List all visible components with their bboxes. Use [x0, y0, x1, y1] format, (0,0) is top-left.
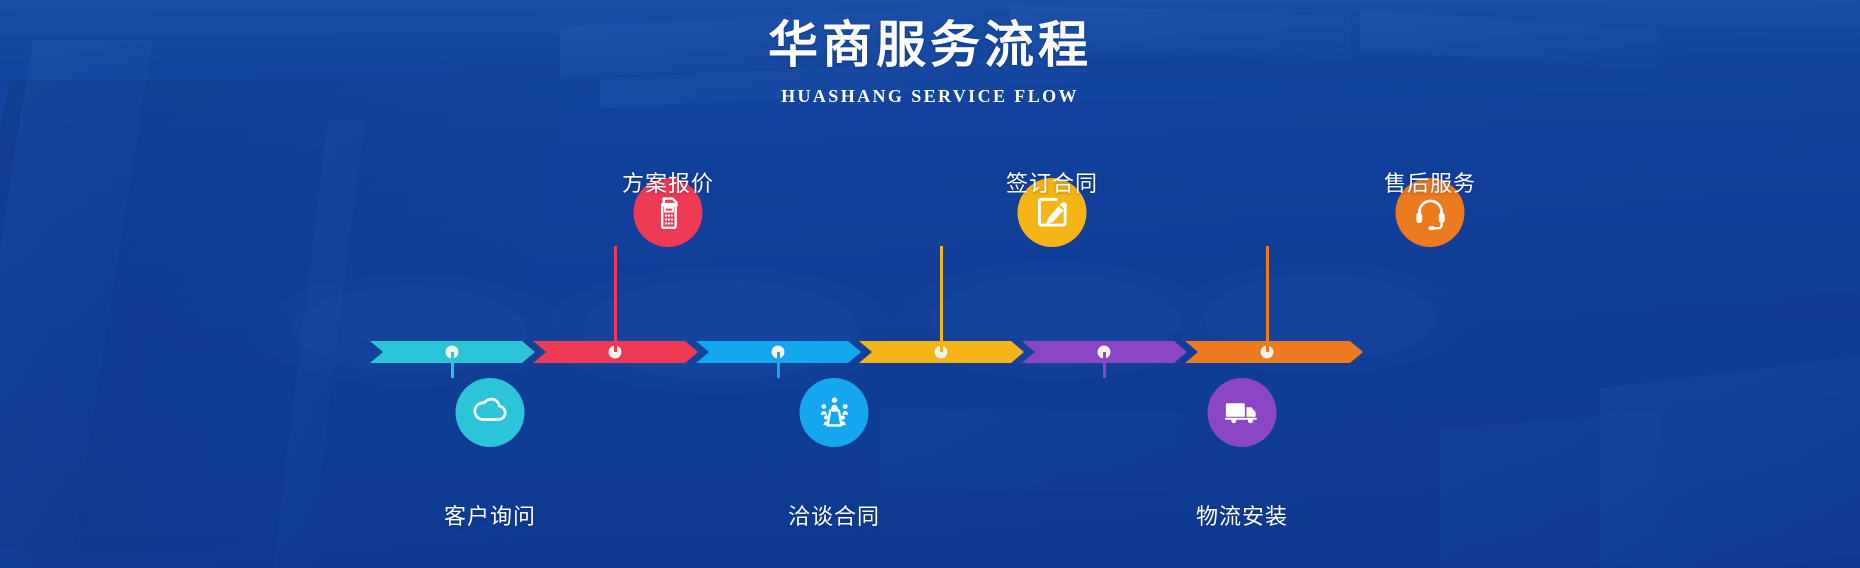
flow-step-label-1: 客户询问 [444, 499, 536, 531]
flow-chevron-bar [370, 341, 1520, 363]
flow-step-label-4: 签订合同 [1006, 166, 1098, 198]
flow-step-connector-3 [777, 352, 780, 378]
meeting-table-icon [815, 393, 853, 431]
headset-support-icon [1411, 193, 1449, 231]
pencil-edit-icon [1033, 193, 1071, 231]
cloud-chat-icon [471, 393, 509, 431]
flow-step-label-3: 洽谈合同 [788, 499, 880, 531]
banner-heading-group: 华商服务流程 HUASHANG SERVICE FLOW [0, 18, 1860, 107]
flow-step-chevron-6[interactable] [1185, 341, 1363, 363]
flow-step-badge-5[interactable] [1208, 378, 1277, 447]
flow-step-label-6: 售后服务 [1384, 166, 1476, 198]
flow-step-connector-2 [614, 246, 617, 352]
flow-step-badge-1[interactable] [456, 378, 525, 447]
service-flow-banner: 华商服务流程 HUASHANG SERVICE FLOW 客户询问方案报价洽谈合… [0, 0, 1860, 568]
flow-step-connector-6 [1266, 246, 1269, 352]
flow-step-label-5: 物流安装 [1196, 499, 1288, 531]
flow-step-badge-3[interactable] [800, 378, 869, 447]
flow-step-connector-1 [451, 352, 454, 378]
flow-step-connector-4 [940, 246, 943, 352]
delivery-truck-icon [1223, 393, 1261, 431]
flow-step-label-2: 方案报价 [622, 166, 714, 198]
page-title: 华商服务流程 [0, 18, 1860, 72]
flow-step-connector-5 [1103, 352, 1106, 378]
page-subtitle: HUASHANG SERVICE FLOW [0, 86, 1860, 107]
calculator-receipt-icon [649, 193, 687, 231]
